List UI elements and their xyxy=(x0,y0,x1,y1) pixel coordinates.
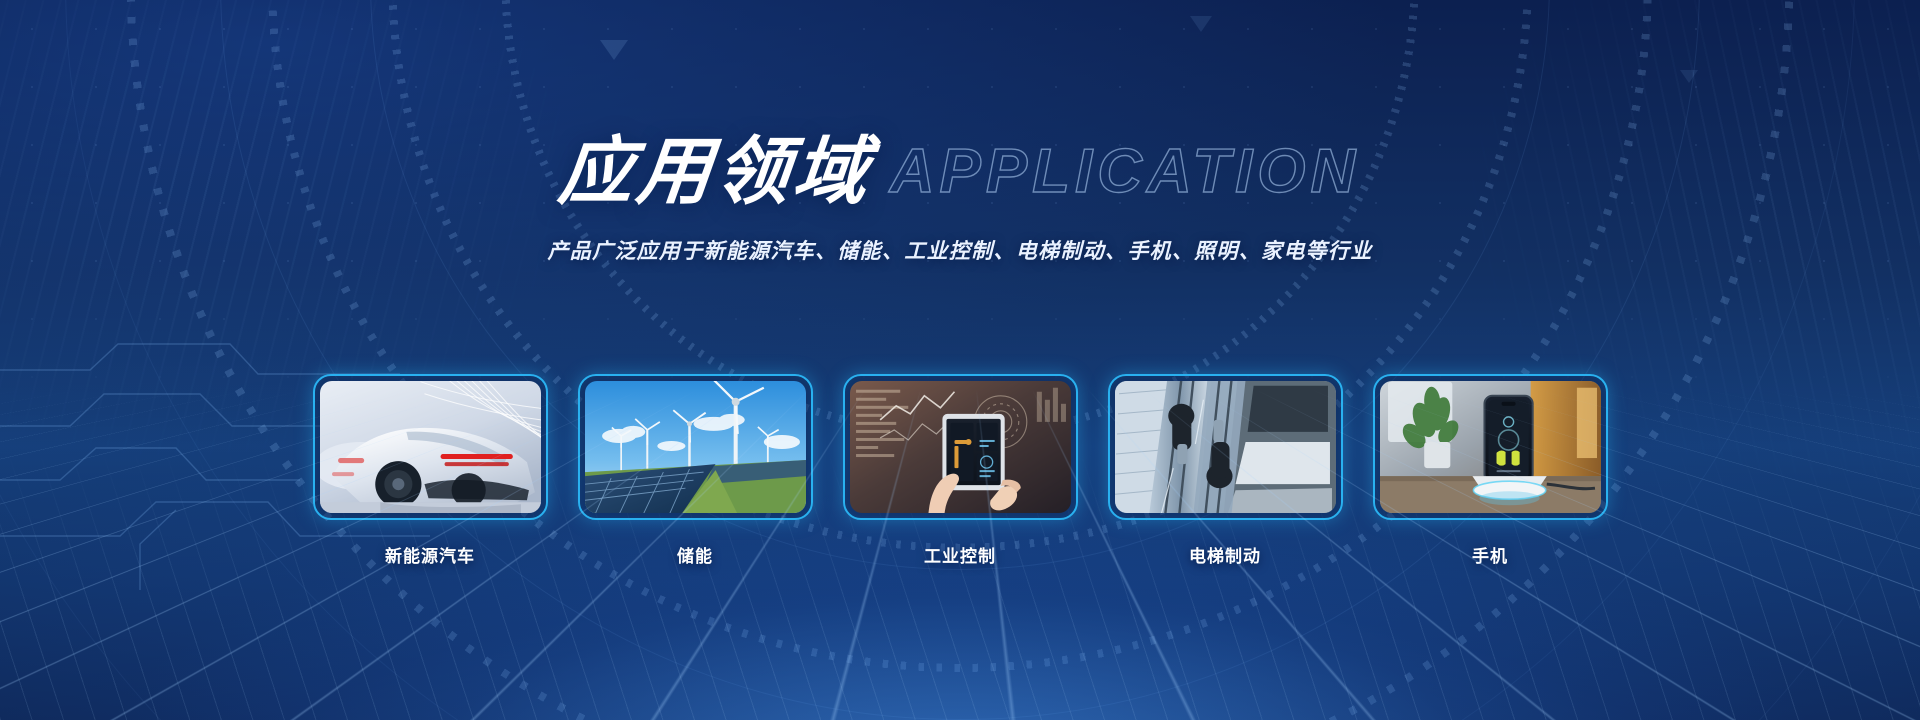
triangle-accent-top-left xyxy=(600,40,628,60)
application-banner: 应用领域APPLICATION 产品广泛应用于新能源汽车、储能、工业控制、电梯制… xyxy=(0,0,1920,720)
card-label: 电梯制动 xyxy=(1108,542,1343,567)
card-frame[interactable] xyxy=(313,374,548,520)
page-title-english: APPLICATION xyxy=(890,136,1361,207)
dot-matrix-pattern xyxy=(0,0,1920,720)
card-frame[interactable] xyxy=(1108,374,1343,520)
triangle-accent-top-right xyxy=(1190,16,1212,32)
application-card[interactable]: 电梯制动 xyxy=(1108,374,1343,567)
card-thumbnail-glass-elevator-shafts-interior xyxy=(1115,381,1336,513)
card-label: 储能 xyxy=(578,542,813,567)
application-card[interactable]: 储能 xyxy=(578,374,813,567)
card-thumbnail-hands-holding-tablet-industrial-dashboard xyxy=(850,381,1071,513)
card-label: 手机 xyxy=(1373,542,1608,567)
application-card[interactable]: 手机 xyxy=(1373,374,1608,567)
card-label: 新能源汽车 xyxy=(313,542,548,567)
banner-header: 应用领域APPLICATION 产品广泛应用于新能源汽车、储能、工业控制、电梯制… xyxy=(0,112,1920,265)
banner-subtitle: 产品广泛应用于新能源汽车、储能、工业控制、电梯制动、手机、照明、家电等行业 xyxy=(0,235,1920,265)
card-frame[interactable] xyxy=(843,374,1078,520)
application-card[interactable]: 新能源汽车 xyxy=(313,374,548,567)
background-decoration xyxy=(0,0,1920,720)
title-row: 应用领域APPLICATION xyxy=(560,112,1361,219)
card-frame[interactable] xyxy=(1373,374,1608,520)
card-thumbnail-electric-sports-car-rear xyxy=(320,381,541,513)
card-thumbnail-smartphone-on-wireless-charging-stand xyxy=(1380,381,1601,513)
triangle-accent-far-right xyxy=(1680,70,1698,83)
card-frame[interactable] xyxy=(578,374,813,520)
card-thumbnail-solar-panels-and-wind-turbines xyxy=(585,381,806,513)
application-card-list: 新能源汽车 xyxy=(0,374,1920,567)
application-card[interactable]: 工业控制 xyxy=(843,374,1078,567)
radar-arc-rings xyxy=(0,0,1920,720)
page-title: 应用领域 xyxy=(554,112,877,219)
card-label: 工业控制 xyxy=(843,542,1078,567)
